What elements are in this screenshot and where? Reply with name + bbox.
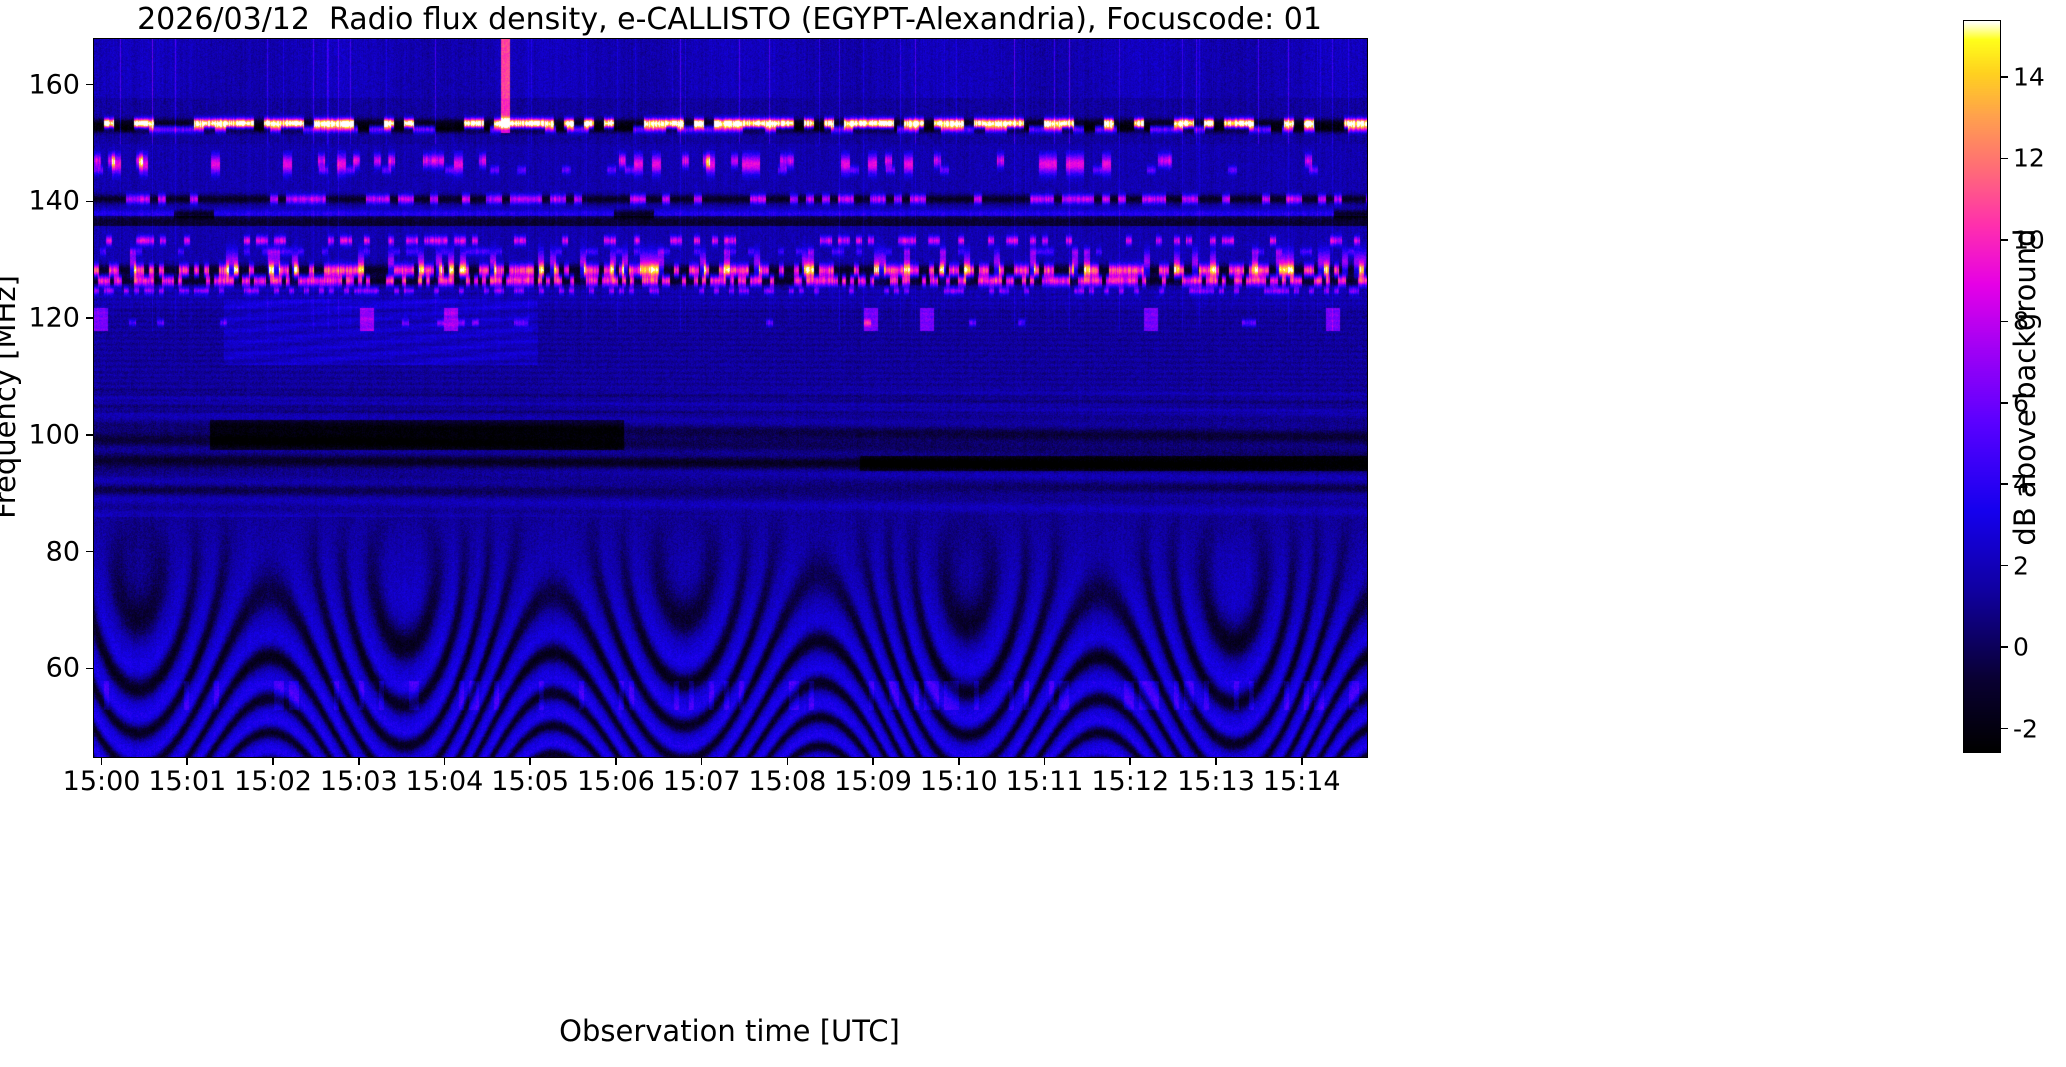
- x-axis-tick-label: 15:01: [148, 768, 226, 795]
- y-axis-tick-mark: [86, 551, 93, 553]
- x-axis-tick-mark: [1215, 758, 1217, 765]
- y-axis-tick-mark: [86, 201, 93, 203]
- colorbar-tick-label: 14: [2013, 65, 2045, 90]
- y-axis-label: Frequency [MHz]: [0, 275, 22, 519]
- colorbar-tick-mark: [2001, 76, 2008, 78]
- y-axis-tick-mark: [86, 84, 93, 86]
- y-axis-tick-mark: [86, 668, 93, 670]
- colorbar-tick-label: 0: [2013, 635, 2029, 660]
- colorbar-group: -202468101214: [1963, 20, 2001, 753]
- colorbar-tick-mark: [2001, 158, 2008, 160]
- x-axis-tick-label: 15:07: [663, 768, 741, 795]
- x-axis-tick-mark: [1301, 758, 1303, 765]
- colorbar-label: dB above background: [2008, 228, 2042, 545]
- colorbar-tick-mark: [2001, 565, 2008, 567]
- x-axis-tick-mark: [358, 758, 360, 765]
- colorbar-tick-mark: [2001, 728, 2008, 730]
- y-axis-tick-label: 160: [28, 71, 80, 98]
- y-axis-tick-label: 120: [28, 305, 80, 332]
- colorbar-tick-label: 12: [2013, 146, 2045, 171]
- colorbar-tick-mark: [2001, 483, 2008, 485]
- x-axis-tick-mark: [701, 758, 703, 765]
- figure-root: 2026/03/12 Radio flux density, e-CALLIST…: [0, 0, 2066, 1067]
- x-axis-tick-mark: [787, 758, 789, 765]
- x-axis-label: Observation time [UTC]: [93, 1014, 1366, 1048]
- x-axis-tick-label: 15:08: [748, 768, 826, 795]
- x-axis-tick-mark: [272, 758, 274, 765]
- x-axis-tick-label: 15:06: [577, 768, 655, 795]
- colorbar-tick-label: 2: [2013, 553, 2029, 578]
- x-axis-tick-label: 15:05: [491, 768, 569, 795]
- y-axis-tick-label: 80: [46, 538, 80, 565]
- y-axis-tick-label: 140: [28, 188, 80, 215]
- colorbar-tick-mark: [2001, 402, 2008, 404]
- x-axis-tick-label: 15:09: [834, 768, 912, 795]
- x-axis-tick-label: 15:10: [920, 768, 998, 795]
- y-axis-tick-mark: [86, 434, 93, 436]
- x-axis-tick-mark: [1129, 758, 1131, 765]
- x-axis-tick-label: 15:03: [320, 768, 398, 795]
- x-axis-tick-label: 15:12: [1091, 768, 1169, 795]
- spectrogram-canvas: [94, 39, 1367, 757]
- colorbar-tick-label: -2: [2013, 716, 2038, 741]
- x-axis-tick-label: 15:04: [406, 768, 484, 795]
- y-axis-tick-mark: [86, 317, 93, 319]
- y-axis-tick-label: 100: [28, 421, 80, 448]
- x-axis-tick-mark: [872, 758, 874, 765]
- x-axis-tick-mark: [186, 758, 188, 765]
- colorbar-tick-mark: [2001, 239, 2008, 241]
- spectrogram-axes: [93, 38, 1368, 758]
- colorbar: [1963, 20, 2001, 753]
- x-axis-tick-label: 15:14: [1263, 768, 1341, 795]
- colorbar-canvas: [1964, 21, 2000, 752]
- page-title: 2026/03/12 Radio flux density, e-CALLIST…: [93, 2, 1366, 38]
- x-axis-tick-label: 15:00: [63, 768, 141, 795]
- x-axis-tick-label: 15:11: [1006, 768, 1084, 795]
- x-axis-tick-mark: [444, 758, 446, 765]
- colorbar-tick-mark: [2001, 321, 2008, 323]
- x-axis-tick-mark: [958, 758, 960, 765]
- x-axis-tick-mark: [615, 758, 617, 765]
- x-axis-tick-mark: [529, 758, 531, 765]
- x-axis-tick-mark: [1044, 758, 1046, 765]
- colorbar-tick-mark: [2001, 646, 2008, 648]
- x-axis-tick-label: 15:13: [1177, 768, 1255, 795]
- y-axis-tick-label: 60: [46, 655, 80, 682]
- x-axis-tick-label: 15:02: [234, 768, 312, 795]
- x-axis-tick-mark: [101, 758, 103, 765]
